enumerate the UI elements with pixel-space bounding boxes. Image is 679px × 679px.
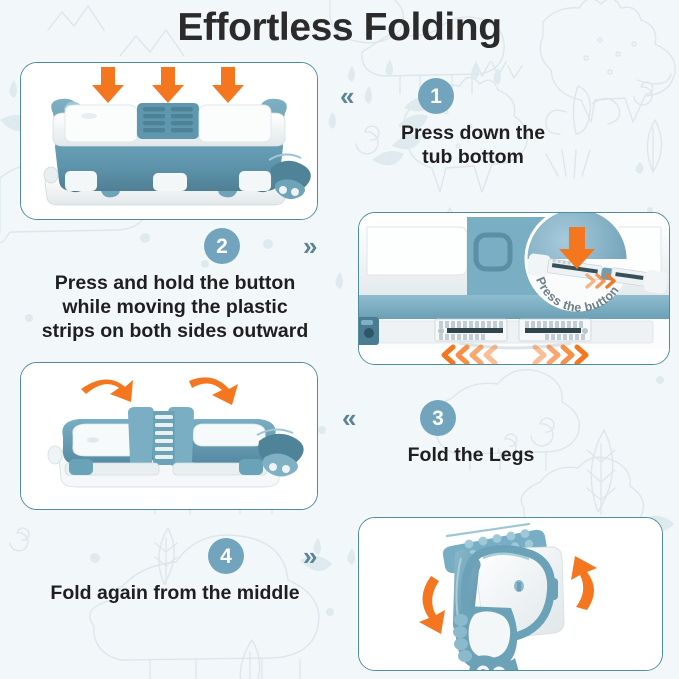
step-4-line-1: Fold again from the middle — [10, 582, 340, 606]
panel-2-image: Press the button — [358, 212, 670, 365]
chevron-right-icon: » — [303, 543, 312, 569]
chevron-right-icon: » — [303, 233, 312, 259]
step-2-line-2: while moving the plastic — [10, 296, 340, 320]
flattened-bathtub-illustration — [21, 363, 317, 509]
infographic-root: Effortless Folding — [0, 0, 679, 679]
step-2-line-1: Press and hold the button — [10, 272, 340, 296]
page-title: Effortless Folding — [0, 6, 679, 50]
panel-3-image — [20, 362, 318, 510]
step-1-caption: « 1 Press down the tub bottom — [340, 78, 660, 170]
chevron-left-icon: « — [340, 83, 349, 109]
folded-bathtub-standing-illustration — [359, 518, 662, 670]
step-3-caption: « 3 Fold the Legs — [340, 400, 660, 468]
step-number-badge-1: 1 — [418, 78, 454, 114]
step-1-line-2: tub bottom — [348, 146, 598, 170]
bathtub-front-view-illustration — [21, 63, 317, 219]
step-2-caption: 2 » Press and hold the button while movi… — [10, 228, 340, 343]
step-number-badge-2: 2 — [204, 228, 240, 264]
step-4-caption: 4 » Fold again from the middle — [10, 538, 340, 606]
step-number-badge-3: 3 — [420, 400, 456, 436]
bathtub-rail-closeup-illustration: Press the button — [359, 213, 669, 364]
panel-4-image — [358, 517, 663, 671]
step-2-line-3: strips on both sides outward — [10, 320, 340, 344]
panel-1-image — [20, 62, 318, 220]
step-1-line-1: Press down the — [348, 122, 598, 146]
step-number-badge-4: 4 — [208, 538, 244, 574]
chevron-left-icon: « — [342, 405, 351, 431]
step-3-line-1: Fold the Legs — [346, 444, 596, 468]
